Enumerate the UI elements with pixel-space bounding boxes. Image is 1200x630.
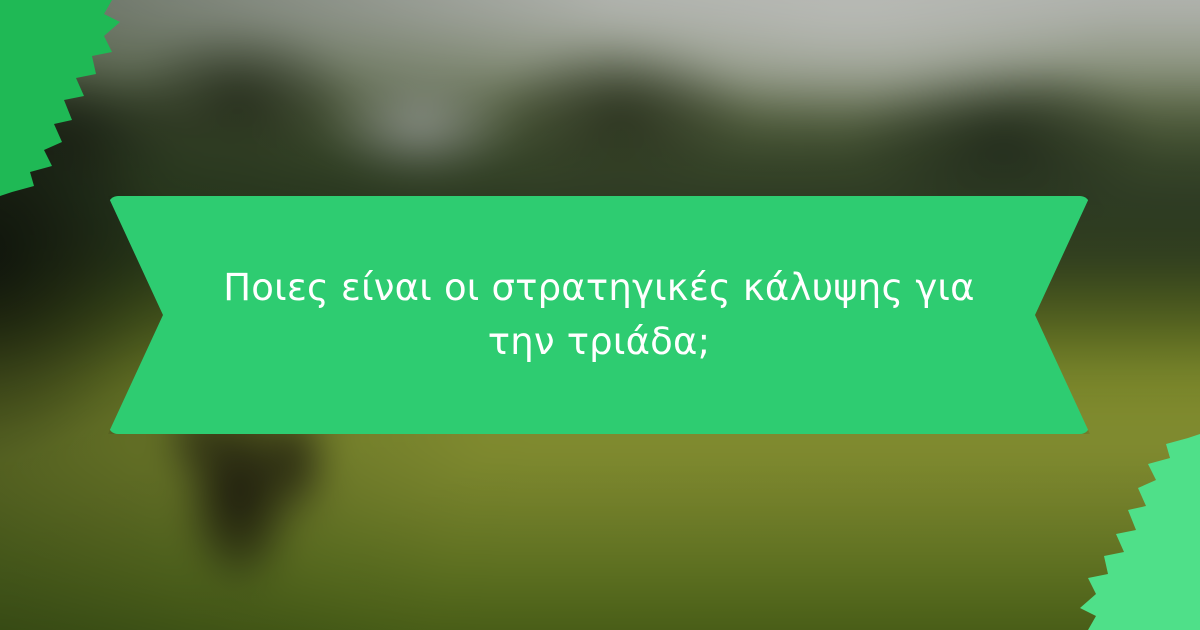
social-card: Ποιες είναι οι στρατηγικές κάλυψης για τ… bbox=[0, 0, 1200, 630]
headline-text: Ποιες είναι οι στρατηγικές κάλυψης για τ… bbox=[218, 196, 980, 434]
ribbon-banner: Ποιες είναι οι στρατηγικές κάλυψης για τ… bbox=[108, 196, 1090, 434]
